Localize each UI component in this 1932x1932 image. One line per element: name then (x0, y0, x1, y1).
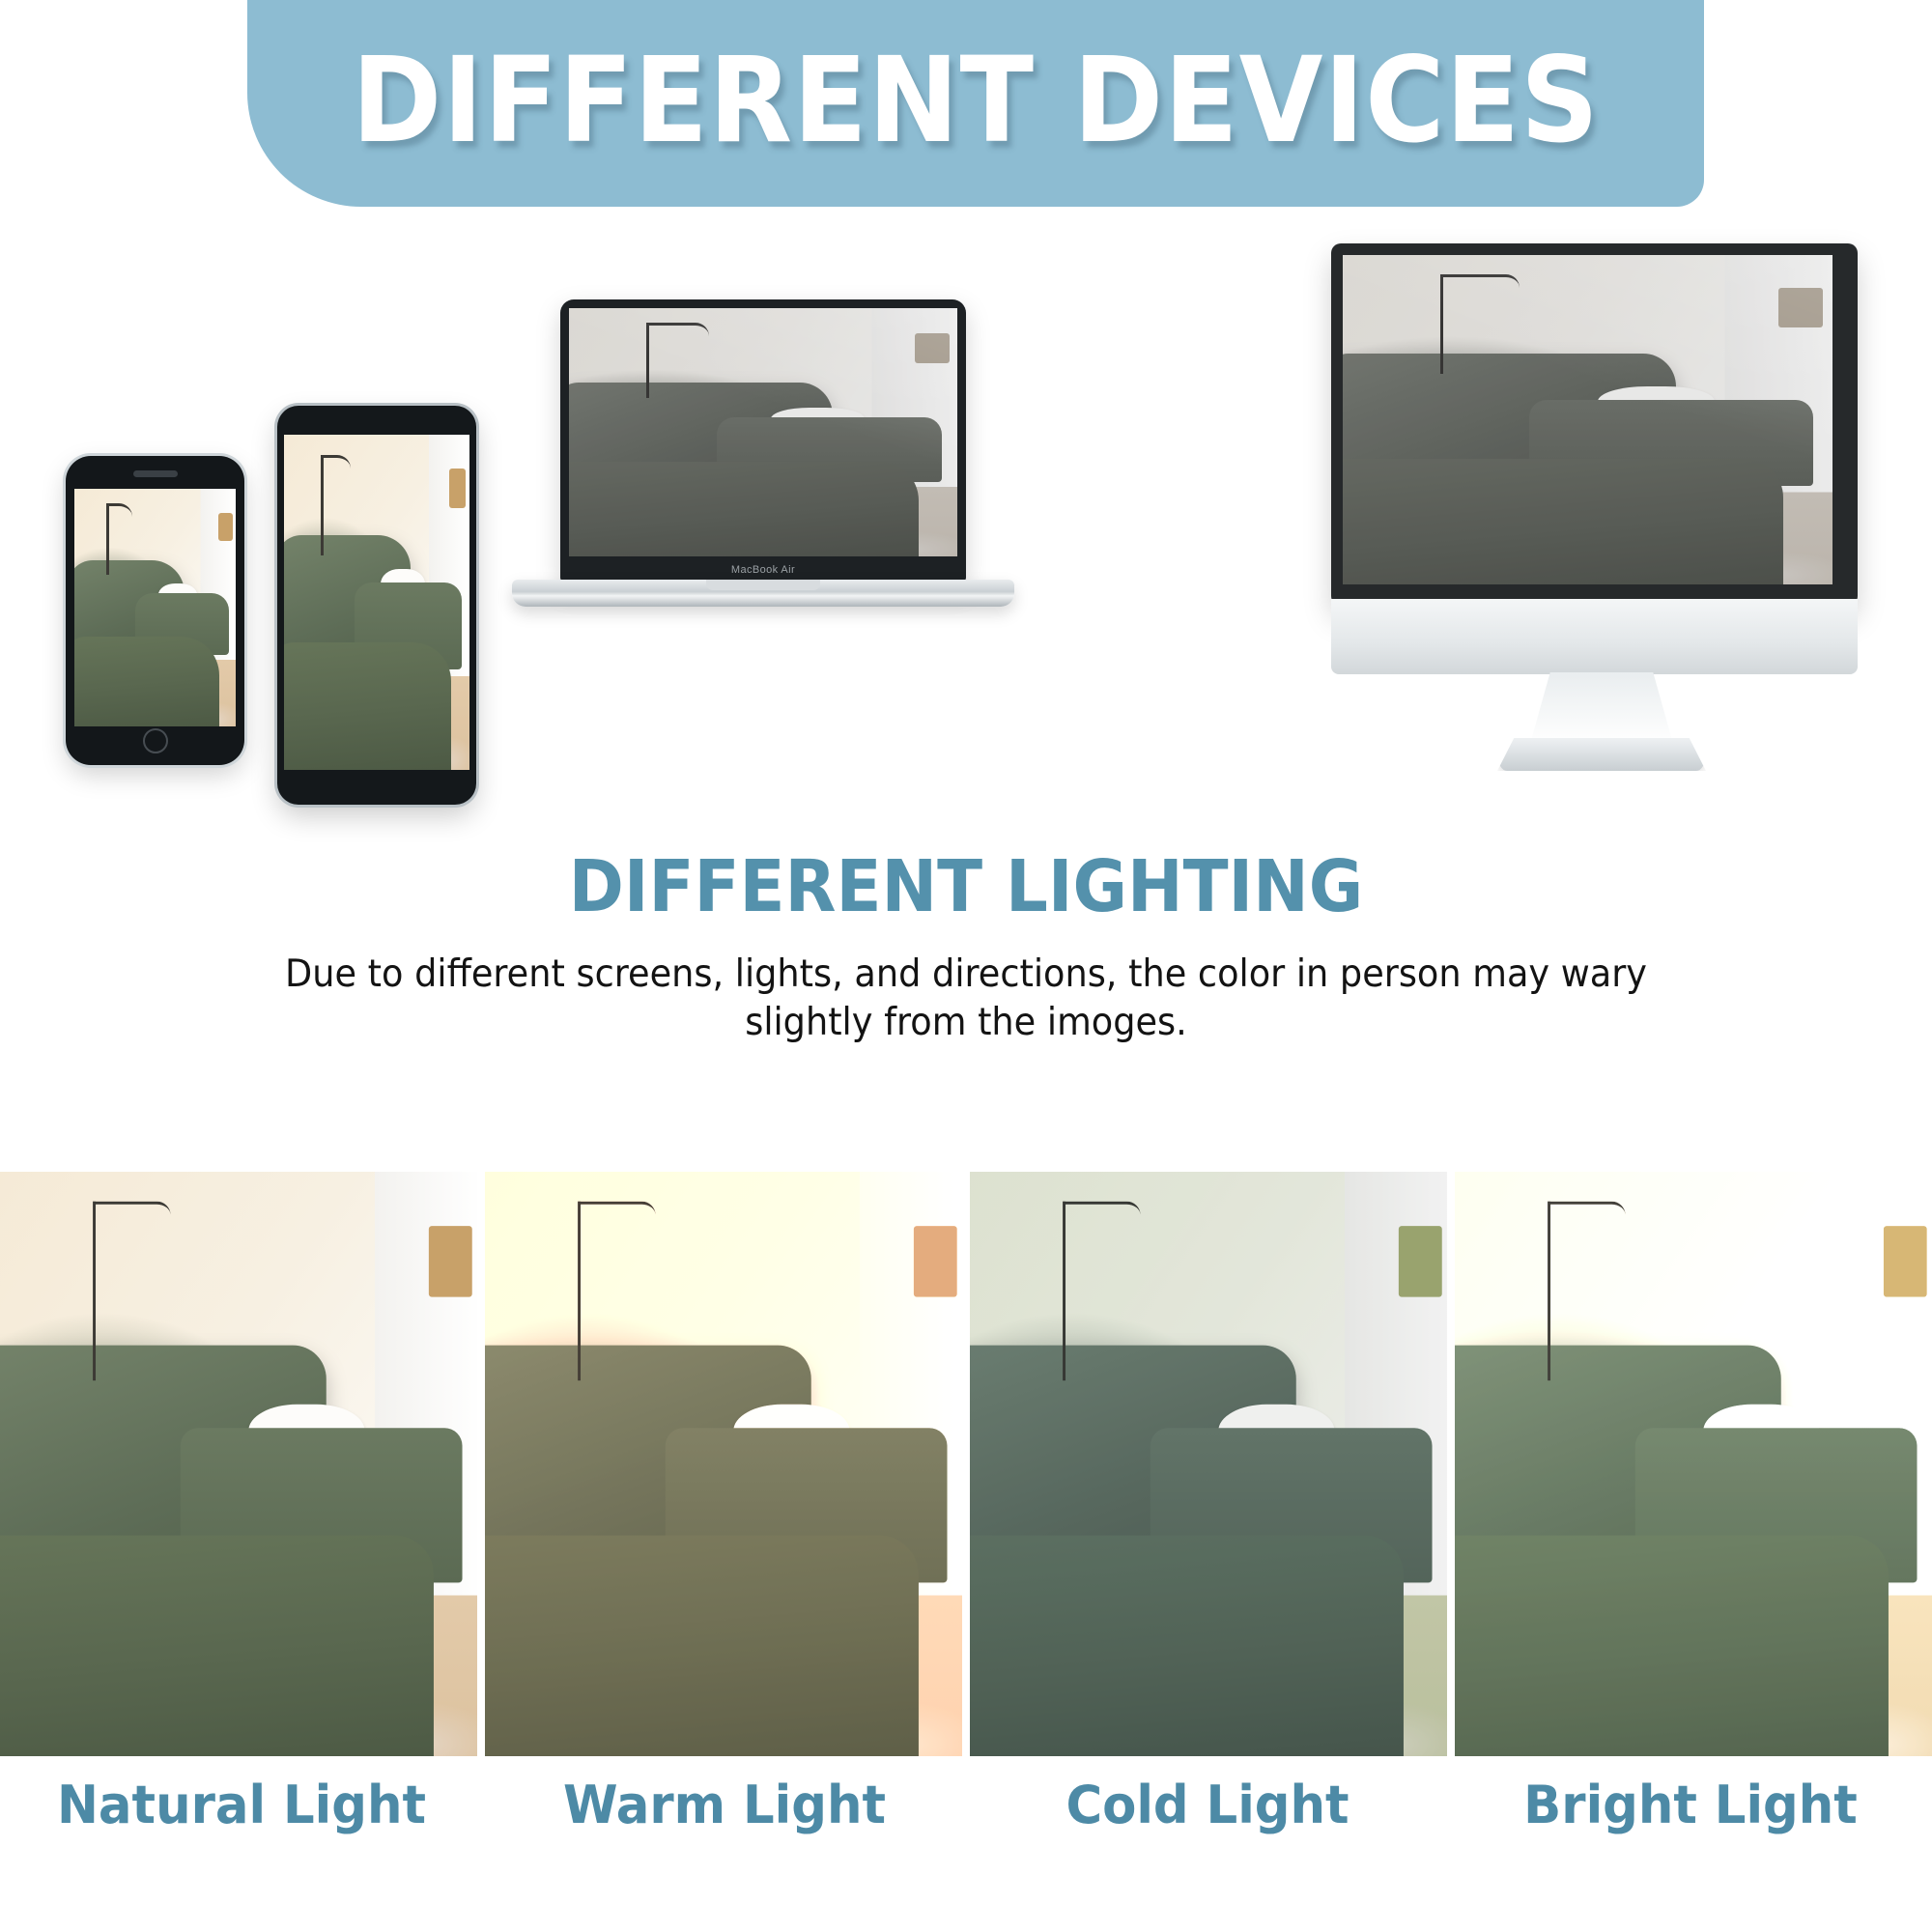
header-banner: DIFFERENT DEVICES (247, 0, 1704, 207)
shelf-basket-shape (429, 1226, 472, 1297)
lamp-shape (321, 455, 351, 555)
comparison-labels-row: Natural Light Warm Light Cold Light Brig… (0, 1779, 1932, 1866)
lamp-shape (646, 323, 708, 397)
monitor-screen (1343, 255, 1833, 584)
lighting-comparison-grid (0, 1172, 1932, 1756)
lighting-description: Due to different screens, lights, and di… (58, 951, 1874, 1048)
sofa-armrest-shape (135, 593, 229, 655)
comparison-panel (970, 1172, 1447, 1756)
label-natural-light: Natural Light (13, 1779, 471, 1866)
lighting-section: DIFFERENT LIGHTING Due to different scre… (0, 850, 1932, 1048)
shelf-basket-shape (218, 513, 233, 542)
laptop-mockup: MacBook Air (512, 299, 1014, 898)
sofa-photo (284, 435, 469, 770)
label-warm-light: Warm Light (496, 1779, 954, 1866)
lighting-description-line-1: Due to different screens, lights, and di… (285, 952, 1647, 996)
laptop-lid: MacBook Air (560, 299, 966, 582)
sofa-photo-cold (970, 1172, 1447, 1756)
monitor-stand-foot (1497, 738, 1706, 771)
lamp-shape (1548, 1202, 1626, 1380)
sofa-armrest-shape (666, 1428, 948, 1582)
smartphone-mockup (66, 456, 244, 765)
sofa-photo (569, 308, 957, 556)
lamp-shape (106, 503, 132, 575)
sofa-armrest-shape (1635, 1428, 1918, 1582)
tablet-mockup (277, 406, 476, 805)
shelf-basket-shape (915, 333, 950, 363)
device-mockups-row: MacBook Air (0, 290, 1932, 831)
lamp-shape (1063, 1202, 1141, 1380)
lamp-shape (1440, 274, 1519, 373)
comparison-panel (1455, 1172, 1932, 1756)
smartphone-screen (74, 489, 236, 726)
comparison-panel (485, 1172, 962, 1756)
sofa-photo (74, 489, 236, 726)
sofa-photo (1343, 255, 1833, 584)
sofa-armrest-shape (717, 417, 942, 482)
lamp-shape (93, 1202, 171, 1380)
phone-speaker-icon (133, 470, 178, 477)
shelf-basket-shape (1884, 1226, 1927, 1297)
label-bright-light: Bright Light (1462, 1779, 1920, 1866)
lighting-description-line-2: slightly from the imoges. (745, 1001, 1187, 1044)
sofa-armrest-shape (1529, 400, 1813, 486)
laptop-notch (706, 580, 820, 590)
sofa-photo-bright (1455, 1172, 1932, 1756)
tablet-screen (284, 435, 469, 770)
monitor-chin (1331, 599, 1858, 674)
shelf-basket-shape (914, 1226, 957, 1297)
desktop-monitor-mockup (1331, 243, 1872, 900)
shelf-basket-shape (1778, 288, 1823, 327)
sofa-armrest-shape (181, 1428, 463, 1582)
phone-home-button-icon[interactable] (143, 728, 168, 753)
laptop-brand-label: MacBook Air (560, 564, 966, 576)
sofa-photo-natural (0, 1172, 477, 1756)
monitor-bezel (1331, 243, 1858, 606)
sofa-photo-warm (485, 1172, 962, 1756)
sofa-armrest-shape (355, 582, 462, 669)
shelf-basket-shape (449, 469, 466, 509)
comparison-panel (0, 1172, 477, 1756)
sofa-armrest-shape (1151, 1428, 1433, 1582)
monitor-stand-neck (1530, 672, 1673, 744)
lamp-shape (578, 1202, 656, 1380)
banner-title: DIFFERENT DEVICES (352, 42, 1600, 165)
shelf-basket-shape (1399, 1226, 1442, 1297)
laptop-screen (569, 308, 957, 556)
label-cold-light: Cold Light (979, 1779, 1437, 1866)
lighting-heading: DIFFERENT LIGHTING (68, 850, 1864, 925)
